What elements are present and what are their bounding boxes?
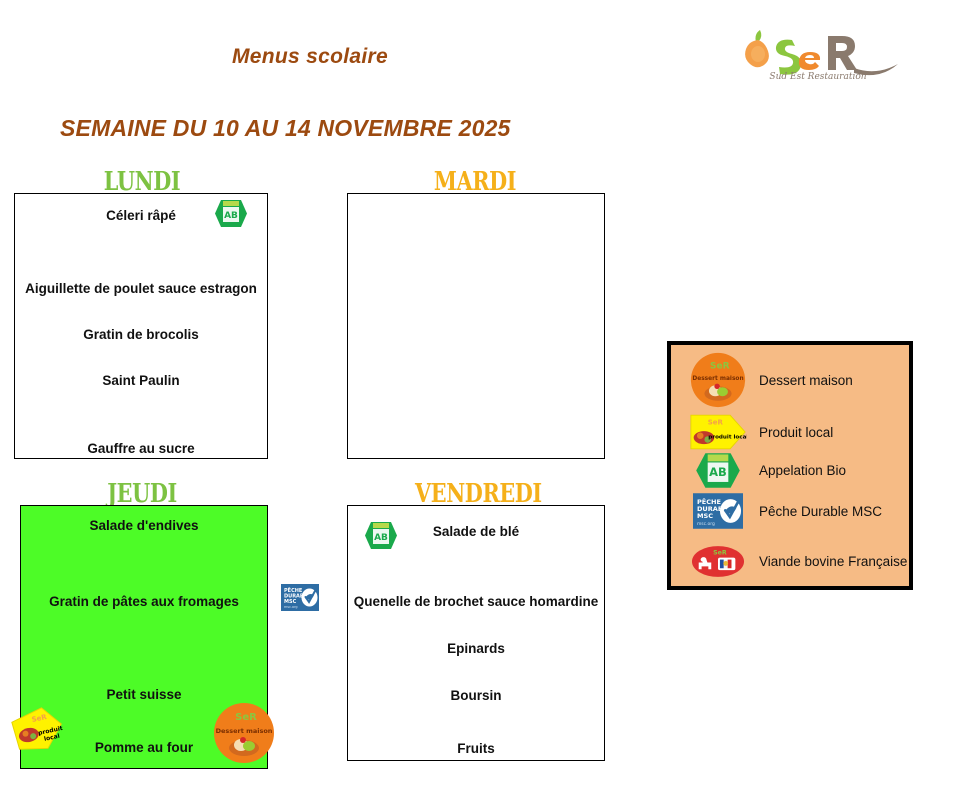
svg-text:SeR: SeR bbox=[235, 712, 257, 723]
legend-panel: SeR Dessert maison Dessert maison SeR pr… bbox=[667, 341, 913, 590]
svg-text:Dessert maison: Dessert maison bbox=[692, 376, 743, 382]
peche-durable-msc-badge: PÊCHE DURABLE MSC msc.org bbox=[687, 488, 749, 534]
svg-text:msc.org: msc.org bbox=[284, 605, 298, 609]
svg-text:MSC: MSC bbox=[697, 512, 713, 520]
page-title: Menus scolaire bbox=[232, 45, 388, 69]
week-subtitle: SEMAINE DU 10 AU 14 NOVEMBRE 2025 bbox=[60, 115, 511, 142]
menu-item: Epinards bbox=[347, 641, 605, 656]
viande-bovine-francaise-badge: SeR bbox=[687, 538, 749, 584]
svg-text:SeR: SeR bbox=[710, 361, 730, 371]
menu-box-mardi bbox=[347, 193, 605, 459]
svg-text:produit local: produit local bbox=[708, 435, 747, 441]
menu-item: Fruits bbox=[347, 741, 605, 756]
svg-text:AB: AB bbox=[374, 533, 388, 543]
menu-item: Gratin de pâtes aux fromages bbox=[20, 594, 268, 609]
svg-text:AB: AB bbox=[224, 211, 238, 221]
menu-box-lundi bbox=[14, 193, 268, 459]
ser-logo: Sud Est Restauration bbox=[732, 22, 912, 84]
svg-text:SeR: SeR bbox=[708, 418, 724, 427]
appelation-bio-badge: AB bbox=[214, 199, 248, 228]
menu-item: Quenelle de brochet sauce homardine bbox=[347, 594, 605, 609]
legend-row-peche-durable-msc: PÊCHE DURABLE MSC msc.org Pêche Durable … bbox=[671, 488, 909, 534]
menu-item: Petit suisse bbox=[20, 687, 268, 702]
dessert-maison-badge: SeR Dessert maison bbox=[213, 702, 275, 764]
legend-label: Viande bovine Française bbox=[759, 554, 907, 569]
menu-item: Gauffre au sucre bbox=[14, 441, 268, 456]
legend-label: Pêche Durable MSC bbox=[759, 504, 882, 519]
menu-item: Salade d'endives bbox=[20, 518, 268, 533]
svg-text:msc.org: msc.org bbox=[697, 521, 715, 527]
svg-text:AB: AB bbox=[709, 465, 727, 479]
menu-item: Gratin de brocolis bbox=[14, 327, 268, 342]
legend-label: Dessert maison bbox=[759, 373, 853, 388]
legend-row-appelation-bio: AB Appelation Bio bbox=[671, 447, 909, 493]
svg-text:Sud Est Restauration: Sud Est Restauration bbox=[769, 72, 866, 82]
legend-row-viande-bovine: SeR Viande bovine Française bbox=[671, 538, 909, 584]
menu-item: Boursin bbox=[347, 688, 605, 703]
svg-text:Dessert maison: Dessert maison bbox=[216, 727, 273, 735]
legend-label: Produit local bbox=[759, 425, 833, 440]
svg-text:SeR: SeR bbox=[713, 549, 727, 556]
menu-item: Aiguillette de poulet sauce estragon bbox=[14, 281, 268, 296]
legend-row-dessert-maison: SeR Dessert maison Dessert maison bbox=[671, 357, 909, 403]
peche-durable-msc-badge: PÊCHE DURABLE MSC msc.org bbox=[281, 584, 319, 611]
legend-label: Appelation Bio bbox=[759, 463, 846, 478]
menu-item: Saint Paulin bbox=[14, 373, 268, 388]
appelation-bio-badge: AB bbox=[687, 447, 749, 493]
appelation-bio-badge: AB bbox=[364, 521, 398, 550]
dessert-maison-badge: SeR Dessert maison bbox=[687, 357, 749, 403]
